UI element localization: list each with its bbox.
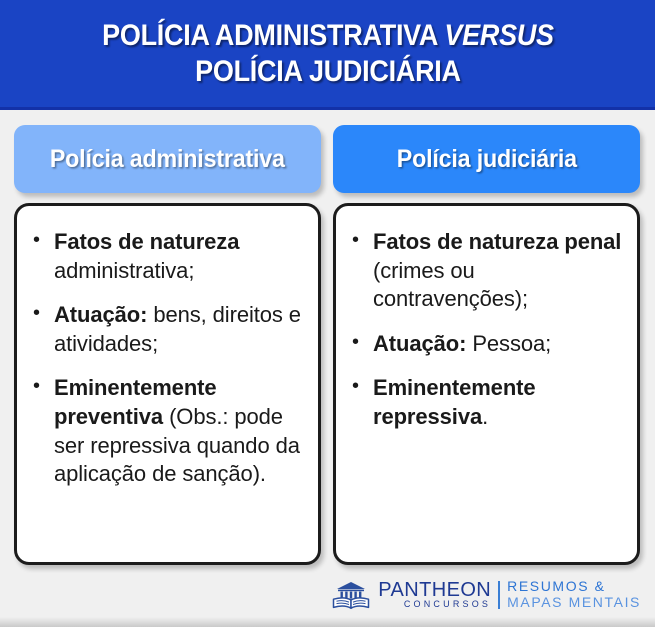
logo-brand: PANTHEON (378, 580, 491, 601)
tab-label: Polícia administrativa (50, 145, 285, 174)
bullet-list: Fatos de natureza administrativa; Atuaçã… (29, 228, 304, 489)
tab-policia-judiciaria[interactable]: Polícia judiciária (333, 125, 640, 193)
title-line1-plain: POLÍCIA ADMINISTRATIVA (102, 19, 444, 52)
title-line2: POLÍCIA JUDICIÁRIA (195, 55, 461, 88)
column-policia-administrativa: Polícia administrativa Fatos de natureza… (14, 125, 321, 627)
logo-tagline-line1: RESUMOS & (507, 579, 641, 595)
bullet-bold-text: Eminentemente repressiva (373, 375, 536, 429)
bullet-list: Fatos de natureza penal (crimes ou contr… (348, 228, 623, 432)
list-item: Eminentemente preventiva (Obs.: pode ser… (29, 374, 304, 488)
list-item: Atuação: Pessoa; (348, 330, 623, 359)
list-item: Fatos de natureza penal (crimes ou contr… (348, 228, 623, 314)
logo-divider (498, 581, 500, 609)
bullet-bold-text: Fatos de natureza penal (373, 229, 621, 254)
list-item: Fatos de natureza administrativa; (29, 228, 304, 285)
card-policia-judiciaria: Fatos de natureza penal (crimes ou contr… (333, 203, 640, 565)
logo-brand-sub: CONCURSOS (378, 600, 491, 610)
bullet-bold-text: Atuação: (373, 331, 466, 356)
bullet-rest-text: Pessoa; (466, 331, 551, 356)
logo-tagline-block: RESUMOS & MAPAS MENTAIS (507, 579, 641, 610)
list-item: Eminentemente repressiva. (348, 374, 623, 431)
page-title: POLÍCIA ADMINISTRATIVA VERSUSPOLÍCIA JUD… (89, 18, 566, 89)
tab-label: Polícia judiciária (396, 145, 576, 174)
logo-tagline-line2: MAPAS MENTAIS (507, 595, 641, 611)
tab-policia-administrativa[interactable]: Polícia administrativa (14, 125, 321, 193)
brand-logo: PANTHEON CONCURSOS RESUMOS & MAPAS MENTA… (331, 579, 641, 610)
logo-brand-block: PANTHEON CONCURSOS (378, 580, 491, 610)
comparison-columns: Polícia administrativa Fatos de natureza… (0, 110, 655, 627)
bullet-bold-text: Fatos de natureza (54, 229, 239, 254)
bullet-rest-text: administrativa; (54, 258, 194, 283)
bullet-rest-text: . (482, 404, 488, 429)
title-line1-italic: VERSUS (444, 19, 553, 52)
list-item: Atuação: bens, direitos e atividades; (29, 301, 304, 358)
header-banner: POLÍCIA ADMINISTRATIVA VERSUSPOLÍCIA JUD… (0, 0, 655, 110)
bullet-rest-text: (crimes ou contravenções); (373, 258, 528, 312)
pantheon-book-icon (331, 580, 371, 610)
card-policia-administrativa: Fatos de natureza administrativa; Atuaçã… (14, 203, 321, 565)
column-policia-judiciaria: Polícia judiciária Fatos de natureza pen… (333, 125, 640, 627)
slide-root: POLÍCIA ADMINISTRATIVA VERSUSPOLÍCIA JUD… (0, 0, 655, 627)
bullet-bold-text: Atuação: (54, 302, 147, 327)
footer: PANTHEON CONCURSOS RESUMOS & MAPAS MENTA… (0, 577, 655, 613)
logo-wordmark: PANTHEON CONCURSOS RESUMOS & MAPAS MENTA… (378, 579, 641, 610)
